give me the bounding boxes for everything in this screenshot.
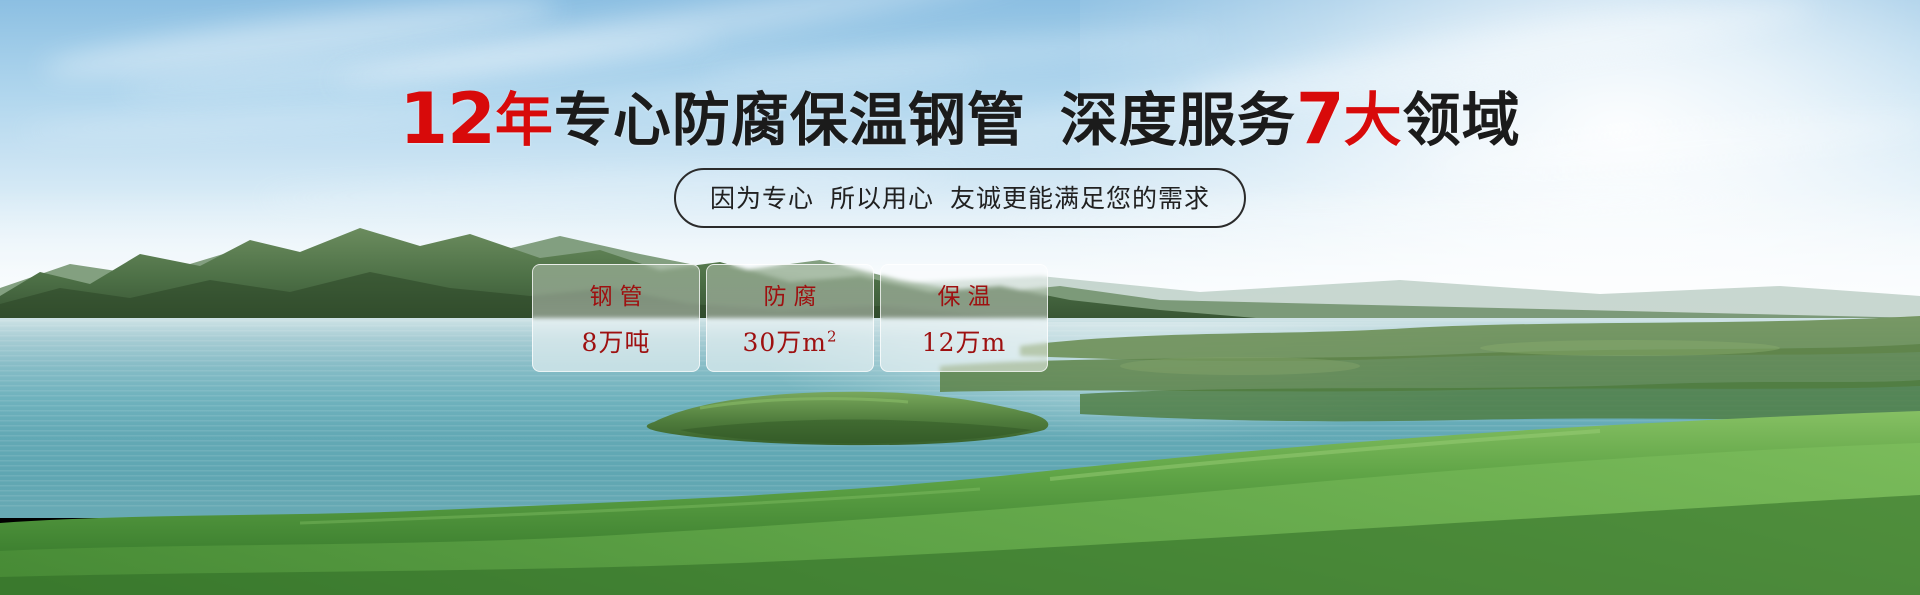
subtitle-pill: 因为专心所以用心友诚更能满足您的需求 <box>674 168 1246 228</box>
stat-card-label: 防腐 <box>757 277 824 311</box>
stat-value-superscript: 2 <box>827 328 838 346</box>
headline-part2: 深度服务 <box>1060 86 1296 154</box>
stat-card-insulation: 保温 12万m <box>880 264 1048 372</box>
stat-card-value: 30万m2 <box>742 323 837 359</box>
headline-part1: 专心防腐保温钢管 <box>554 86 1026 154</box>
subtitle-phrase-1: 因为专心 <box>710 184 814 213</box>
subtitle-phrase-3: 友诚更能满足您的需求 <box>950 184 1210 213</box>
banner-content: 12年专心防腐保温钢管深度服务7大领域 因为专心所以用心友诚更能满足您的需求 钢… <box>0 0 1920 595</box>
stat-card-group: 钢管 8万吨 防腐 30万m2 保温 12万m <box>532 264 1048 372</box>
subtitle-phrase-2: 所以用心 <box>830 184 934 213</box>
page-title: 12年专心防腐保温钢管深度服务7大领域 <box>0 84 1920 154</box>
stat-card-steel-pipe: 钢管 8万吨 <box>532 264 700 372</box>
stat-value-text: 30万m <box>742 328 827 357</box>
years-number: 12 <box>399 78 494 160</box>
fields-unit: 大 <box>1344 86 1403 154</box>
years-suffix: 年 <box>495 86 554 154</box>
stat-value-text: 12万m <box>922 328 1007 357</box>
stat-card-value: 12万m <box>922 323 1007 359</box>
stat-card-label: 保温 <box>931 277 998 311</box>
stat-card-value: 8万吨 <box>582 323 651 359</box>
stat-card-label: 钢管 <box>583 277 650 311</box>
stat-value-text: 8万吨 <box>582 328 651 357</box>
stat-card-anticorrosion: 防腐 30万m2 <box>706 264 874 372</box>
fields-number: 7 <box>1296 78 1344 160</box>
headline-part3: 领域 <box>1403 86 1521 154</box>
hero-banner: 12年专心防腐保温钢管深度服务7大领域 因为专心所以用心友诚更能满足您的需求 钢… <box>0 0 1920 595</box>
